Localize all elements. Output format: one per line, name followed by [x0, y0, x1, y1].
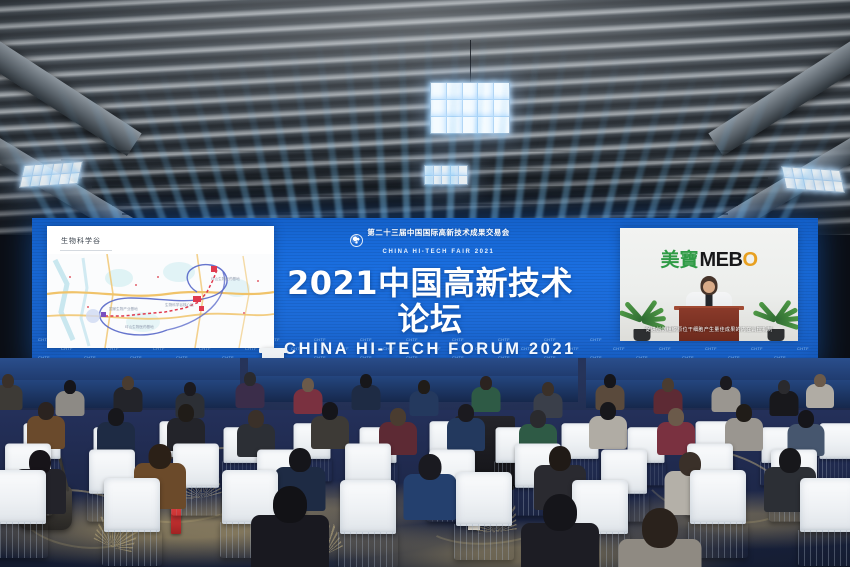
audience-chair[interactable] — [456, 472, 512, 558]
audience-head — [814, 374, 826, 387]
audience-head — [184, 382, 196, 396]
ceiling-truss — [51, 150, 799, 152]
mebo-subtitle: 促进创伤组织原位干细胞产生量佳成果的内在调控机制 — [626, 326, 792, 333]
audience-head — [778, 380, 790, 394]
chair-skirt — [454, 524, 514, 560]
audience-head — [122, 376, 134, 390]
audience-torso — [806, 384, 834, 408]
audience-head — [289, 448, 311, 472]
audience-head — [64, 380, 76, 394]
led-watermark: CHTF — [659, 346, 671, 351]
map-canvas: 国家生物产业基地 生物科学谷核心区 坪山生物医药基地 坪山生物医药基地 — [47, 254, 274, 348]
audience-head — [779, 448, 801, 473]
audience-head — [418, 380, 430, 394]
audience-head — [458, 404, 474, 422]
chair-skirt — [0, 522, 48, 558]
audience-head — [419, 454, 442, 480]
svg-text:坪山生物医药基地: 坪山生物医药基地 — [125, 324, 154, 329]
audience-head — [736, 404, 752, 422]
audience-head — [390, 408, 406, 426]
mebo-podium — [679, 308, 739, 341]
audience-head — [322, 402, 338, 420]
audience-torso — [589, 416, 627, 449]
audience-torso — [447, 418, 485, 451]
conference-hall-photo: CHTFCHTFCHTFCHTFCHTFCHTFCHTFCHTFCHTFCHTF… — [0, 0, 850, 567]
audience-head — [248, 410, 264, 428]
audience-head — [480, 376, 492, 390]
audience-head — [668, 408, 684, 426]
forum-title-en: CHINA HI-TECH FORUM 2021 — [272, 340, 588, 359]
head-table-center — [248, 358, 578, 378]
ceiling-light-grid-right — [781, 166, 845, 193]
chair-skirt — [338, 532, 398, 567]
audience-torso — [404, 474, 457, 520]
led-watermark: CHTF — [705, 346, 717, 351]
ceiling-light-grid-left — [19, 161, 83, 188]
mebo-logo-en-dark: MEB — [700, 249, 743, 271]
audience-torso — [56, 391, 85, 416]
audience-head — [662, 378, 674, 392]
audience-head — [38, 402, 54, 420]
led-watermark: CHTF — [613, 346, 625, 351]
hi-tech-fair-logo-icon — [350, 234, 363, 247]
chair-back — [104, 478, 160, 532]
audience-head — [543, 494, 577, 531]
chair-skirt — [102, 530, 162, 566]
audience-torso — [770, 391, 799, 416]
ceiling-truss — [61, 159, 789, 161]
chair-back — [456, 472, 512, 526]
ceiling-light-grid-main — [430, 82, 510, 134]
head-table-right — [586, 358, 850, 382]
audience-head — [302, 378, 314, 392]
audience-head — [642, 508, 678, 548]
forum-title-cn: 2021中国高新技术论坛 — [272, 266, 588, 338]
audience-head — [798, 410, 814, 428]
left-slide-title: 生物科学谷 — [61, 236, 101, 246]
audience-torso — [294, 389, 323, 414]
audience-chair[interactable] — [104, 478, 160, 564]
audience-torso — [472, 387, 501, 412]
light-grid-hanger — [470, 40, 471, 84]
mebo-logo-en-accent: O — [742, 249, 757, 271]
chair-back — [690, 470, 746, 524]
audience-head — [108, 408, 124, 426]
led-watermark: CHTF — [797, 346, 809, 351]
audience-head — [530, 410, 546, 428]
audience-torso — [0, 385, 23, 410]
mebo-logo: 美寶 MEBO — [660, 245, 757, 272]
fair-title-cn: 第二十三届中国国际高新技术成果交易会 — [367, 228, 509, 237]
audience-chair[interactable] — [800, 478, 850, 564]
ceiling-truss — [92, 186, 758, 188]
audience-torso — [311, 416, 349, 449]
audience-head — [273, 486, 307, 523]
chair-back — [0, 470, 46, 524]
svg-text:坪山生物医药基地: 坪山生物医药基地 — [211, 276, 240, 281]
audience-head — [549, 446, 571, 471]
mebo-logo-en: MEBO — [700, 249, 758, 272]
speaker-face — [703, 281, 715, 293]
svg-text:生物科学谷核心区: 生物科学谷核心区 — [165, 302, 194, 307]
chair-back — [800, 478, 850, 532]
audience-head — [149, 444, 172, 469]
audience-head — [720, 376, 732, 390]
audience-floor — [0, 358, 850, 567]
map-svg: 国家生物产业基地 生物科学谷核心区 坪山生物医药基地 坪山生物医药基地 — [47, 254, 274, 348]
audience-chair[interactable] — [340, 480, 396, 566]
left-presentation-slide: 生物科学谷 — [47, 226, 274, 348]
audience-torso — [236, 383, 265, 408]
audience-head — [244, 372, 256, 386]
audience-head — [2, 374, 14, 388]
chair-skirt — [798, 530, 850, 566]
audience-head — [600, 402, 616, 420]
right-presentation-slide: 美寶 MEBO 促进创伤组织原位干细胞产生 — [620, 228, 798, 341]
audience-torso — [352, 385, 381, 410]
head-table-left — [0, 358, 240, 382]
svg-text:国家生物产业基地: 国家生物产业基地 — [109, 306, 138, 311]
audience-chair[interactable] — [0, 470, 46, 556]
led-center-content: 第二十三届中国国际高新技术成果交易会 CHINA HI-TECH FAIR 20… — [272, 222, 588, 342]
ceiling-light-grid-mid — [424, 165, 468, 185]
audience-head — [360, 374, 372, 388]
left-slide-rule — [60, 250, 112, 251]
audience-head — [178, 404, 194, 422]
fair-header: 第二十三届中国国际高新技术成果交易会 CHINA HI-TECH FAIR 20… — [272, 222, 588, 258]
audience-head — [604, 374, 616, 388]
mebo-logo-cn: 美寶 — [660, 245, 698, 272]
fair-title-en: CHINA HI-TECH FAIR 2021 — [383, 249, 495, 255]
audience-torso — [410, 391, 439, 416]
chair-back — [340, 480, 396, 534]
audience-head — [542, 382, 554, 396]
led-watermark: CHTF — [590, 337, 602, 342]
led-watermark: CHTF — [751, 346, 763, 351]
